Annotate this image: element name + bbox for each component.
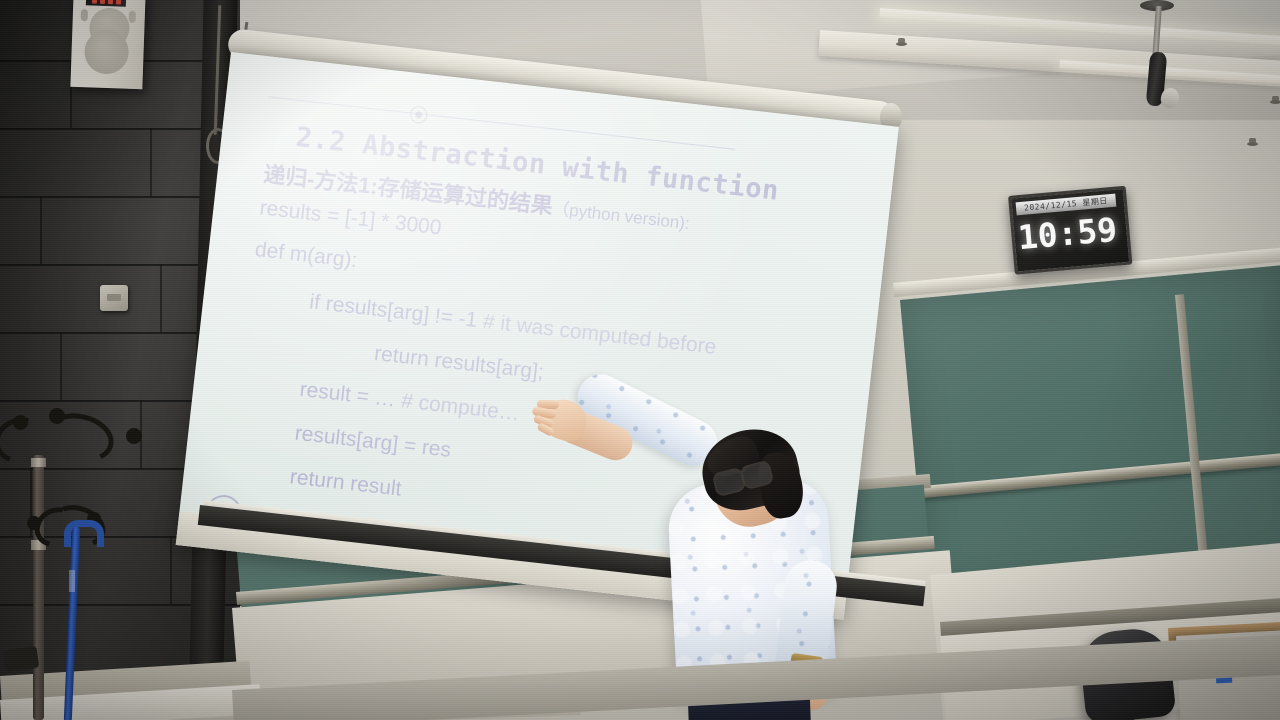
code-line-4: result = … # compute… (298, 378, 520, 427)
target-dot-icon (409, 105, 428, 124)
wall-outlet-icon[interactable] (100, 285, 128, 311)
umbrella-handle[interactable] (64, 520, 104, 547)
coat-rack-knob (13, 415, 28, 430)
code-comment: # compute… (400, 389, 521, 425)
wall-speaker-icon (70, 0, 145, 89)
code-text: return result (289, 465, 403, 500)
floor-cable (3, 646, 40, 673)
coat-rack-collar-upper (31, 458, 46, 467)
coat-rack-pole[interactable] (33, 455, 44, 720)
code-line-3: return results[arg]; (373, 342, 545, 385)
sprinkler-icon (1247, 138, 1258, 151)
code-text: result = … (299, 378, 397, 412)
code-line-2: if results[arg] != -1 # it was computed … (308, 290, 717, 359)
slide-subtitle-paren: （python version): (551, 199, 690, 233)
code-line-6: return result (289, 465, 403, 501)
code-text: return results[arg]; (373, 342, 545, 384)
sprinkler-icon (896, 38, 907, 51)
coat-rack-knob (49, 408, 65, 424)
umbrella-label (69, 570, 75, 592)
classroom-photo: 2024/12/15 星期日 10:59 2.2 Abstraction wit… (0, 0, 1280, 720)
sprinkler-icon (1270, 96, 1280, 109)
digital-wall-clock: 2024/12/15 星期日 10:59 (1008, 186, 1132, 275)
code-text: def m(arg): (254, 238, 359, 272)
code-line-1: def m(arg): (254, 238, 359, 273)
code-text: results[arg] = res (294, 422, 453, 462)
code-line-5: results[arg] = res (294, 422, 453, 463)
coat-rack-knob (27, 516, 41, 530)
coat-rack-knob (126, 428, 142, 444)
code-comment: # it was computed before (482, 310, 718, 359)
clock-time-text: 10:59 (1013, 209, 1122, 257)
code-text: if results[arg] != -1 (308, 290, 478, 332)
